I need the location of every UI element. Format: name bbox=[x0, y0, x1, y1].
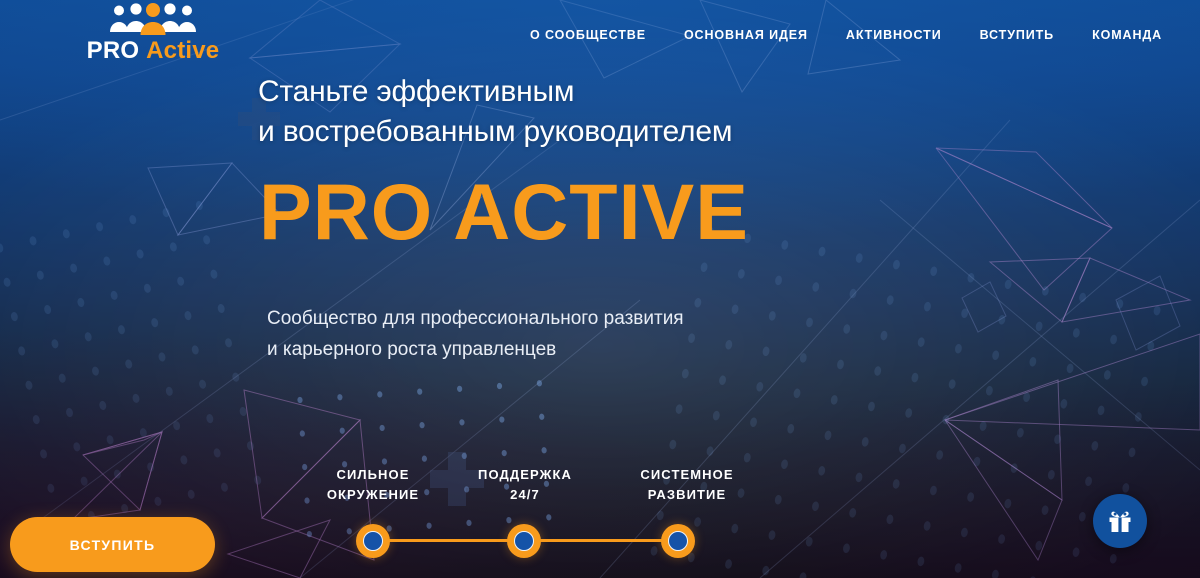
nav-item-activities[interactable]: АКТИВНОСТИ bbox=[846, 28, 942, 42]
timeline-dot-2[interactable] bbox=[507, 524, 541, 558]
timeline-dot-3[interactable] bbox=[661, 524, 695, 558]
feature-label: ПОДДЕРЖКА 24/7 bbox=[440, 465, 610, 505]
timeline-dot-1[interactable] bbox=[356, 524, 390, 558]
feature-strong-environment: СИЛЬНОЕ ОКРУЖЕНИЕ bbox=[288, 465, 458, 505]
join-button[interactable]: ВСТУПИТЬ bbox=[10, 517, 215, 572]
feature-support-247: ПОДДЕРЖКА 24/7 bbox=[440, 465, 610, 505]
people-group-icon bbox=[107, 2, 199, 36]
nav-item-main-idea[interactable]: ОСНОВНАЯ ИДЕЯ bbox=[684, 28, 808, 42]
hero-tagline-line-2: и карьерного роста управленцев bbox=[267, 335, 684, 366]
hero-eyebrow-line-1: Станьте эффективным bbox=[258, 72, 732, 112]
hero-eyebrow-line-2: и востребованным руководителем bbox=[258, 112, 732, 152]
nav-item-join[interactable]: ВСТУПИТЬ bbox=[980, 28, 1054, 42]
nav-item-about[interactable]: О СООБЩЕСТВЕ bbox=[530, 28, 646, 42]
page-title: PRO ACTIVE bbox=[259, 174, 749, 250]
hero-eyebrow: Станьте эффективным и востребованным рук… bbox=[258, 72, 732, 151]
nav-item-team[interactable]: КОМАНДА bbox=[1092, 28, 1162, 42]
gift-widget-button[interactable] bbox=[1093, 494, 1147, 548]
feature-systemic-development: СИСТЕМНОЕ РАЗВИТИЕ bbox=[602, 465, 772, 505]
logo[interactable]: PRO Active bbox=[78, 2, 228, 63]
plus-shape-decoration bbox=[238, 98, 484, 506]
hero-tagline-line-1: Сообщество для профессионального развити… bbox=[267, 304, 684, 335]
main-navigation: О СООБЩЕСТВЕ ОСНОВНАЯ ИДЕЯ АКТИВНОСТИ ВС… bbox=[530, 28, 1200, 42]
hero-tagline: Сообщество для профессионального развити… bbox=[267, 304, 684, 366]
feature-label: СИСТЕМНОЕ РАЗВИТИЕ bbox=[602, 465, 772, 505]
feature-label: СИЛЬНОЕ ОКРУЖЕНИЕ bbox=[288, 465, 458, 505]
logo-word-active: Active bbox=[146, 37, 219, 64]
hero-page: PRO Active О СООБЩЕСТВЕ ОСНОВНАЯ ИДЕЯ АК… bbox=[0, 0, 1200, 578]
logo-word-pro: PRO bbox=[87, 37, 140, 64]
gift-icon bbox=[1106, 507, 1134, 535]
logo-wordmark: PRO Active bbox=[78, 39, 228, 63]
